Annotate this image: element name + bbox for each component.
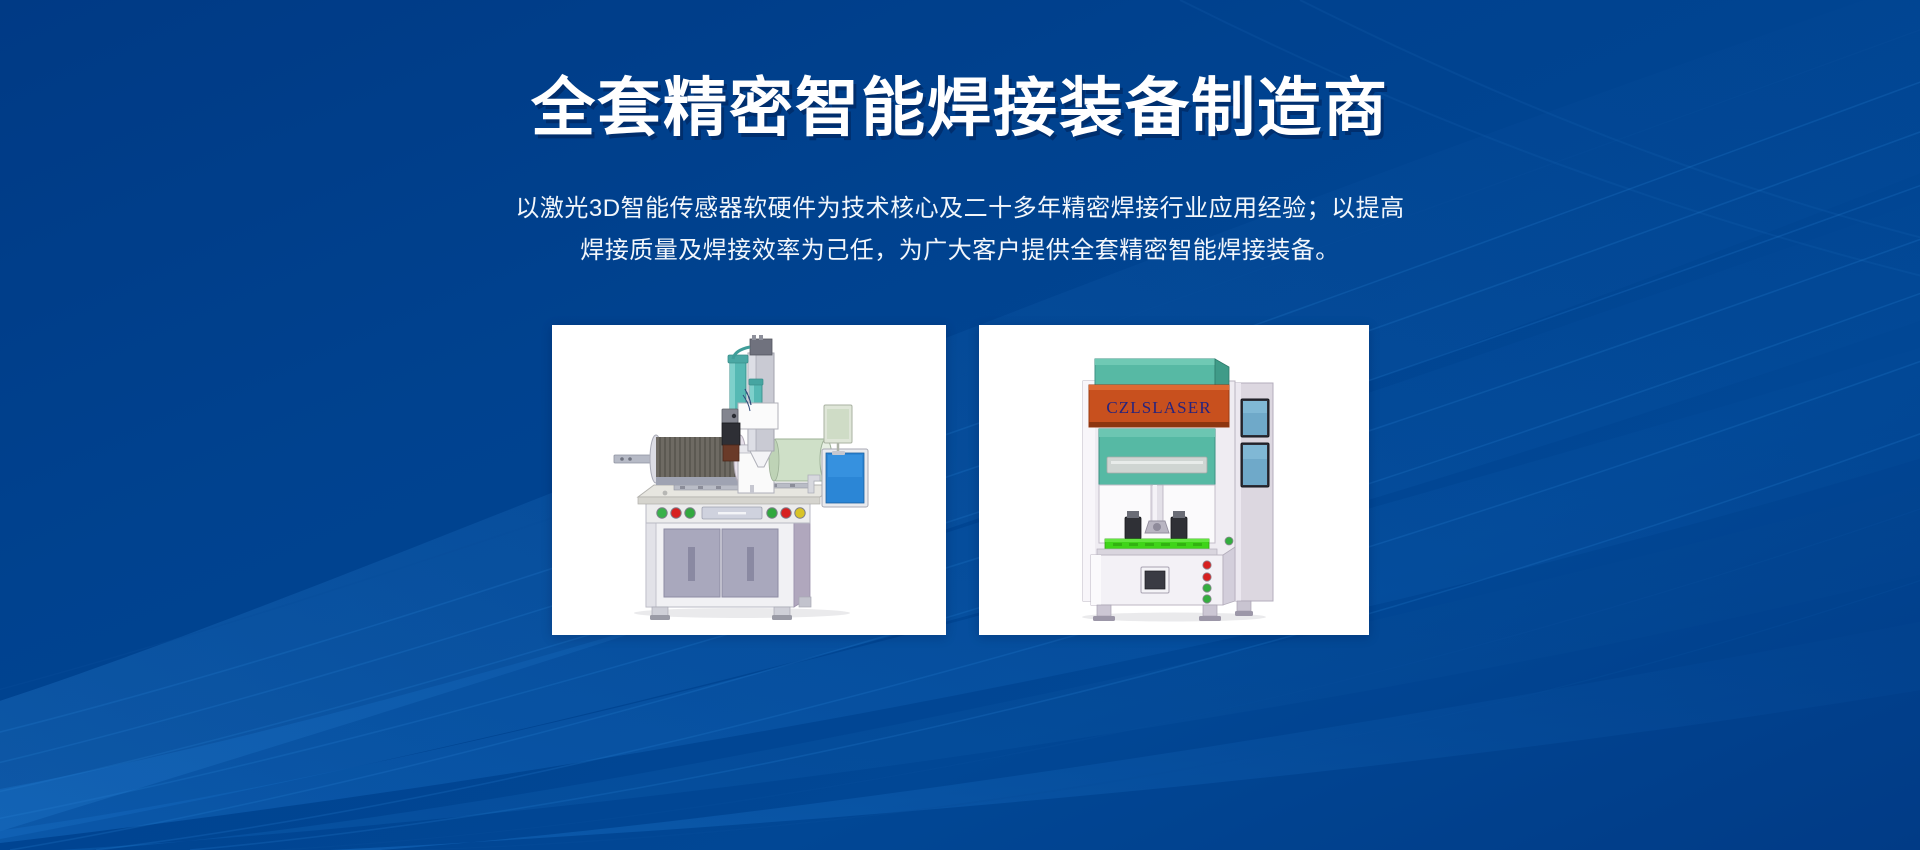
text-block: 全套精密智能焊接装备制造商 以激光3D智能传感器软硬件为技术核心及二十多年精密焊… bbox=[0, 0, 1920, 272]
banner-stage: 全套精密智能焊接装备制造商 以激光3D智能传感器软硬件为技术核心及二十多年精密焊… bbox=[0, 0, 1920, 850]
page-title: 全套精密智能焊接装备制造商 bbox=[0, 0, 1920, 140]
subtitle-line-2: 焊接质量及焊接效率为己任，为广大客户提供全套精密智能焊接装备。 bbox=[500, 230, 1420, 272]
page-subtitle: 以激光3D智能传感器软硬件为技术核心及二十多年精密焊接行业应用经验；以提高 焊接… bbox=[500, 140, 1420, 272]
subtitle-line-1: 以激光3D智能传感器软硬件为技术核心及二十多年精密焊接行业应用经验；以提高 bbox=[500, 188, 1420, 230]
brand-label-czlslaser: CZLSLASER bbox=[1106, 398, 1211, 417]
product-card-list: CZLSLASER bbox=[0, 325, 1920, 637]
welding-workstation-illustration bbox=[552, 325, 946, 635]
product-card-welding-workstation[interactable] bbox=[552, 325, 946, 635]
laser-cabinet-illustration: CZLSLASER bbox=[979, 325, 1369, 635]
product-card-laser-cabinet[interactable]: CZLSLASER bbox=[979, 325, 1369, 635]
